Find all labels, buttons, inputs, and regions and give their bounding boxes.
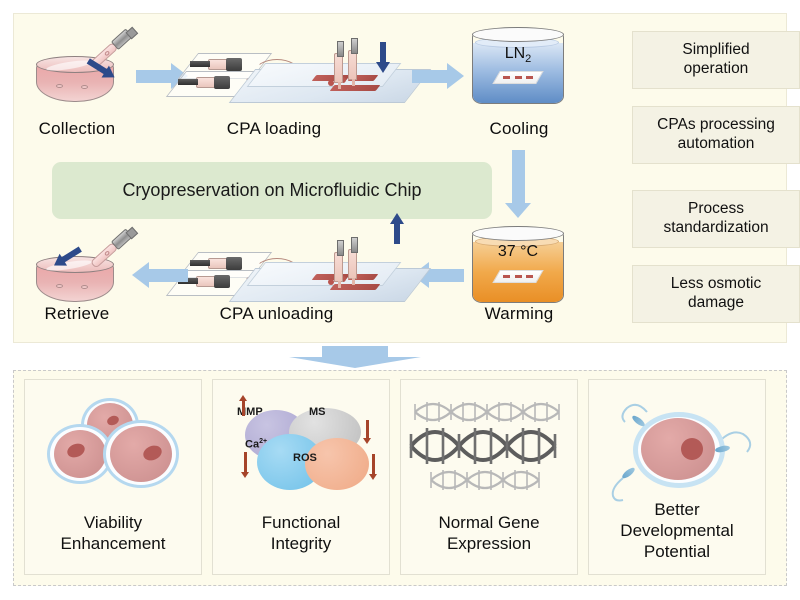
- sperm-tail: [613, 478, 623, 501]
- step-label-cpa-loading: CPA loading: [194, 119, 354, 139]
- figure-root: Collection: [0, 0, 800, 600]
- outcome-card-viability-enhancement: Viability Enhancement: [24, 379, 202, 575]
- dna-svg: [401, 394, 579, 504]
- arrow-shaft: [394, 222, 400, 244]
- warming-temperature-label: 37 °C: [472, 243, 564, 261]
- organelle-blobs-icon: MMP MS Ca2+ ROS: [213, 394, 391, 504]
- outcomes-panel: Viability Enhancement MMP MS Ca2+ ROS: [13, 370, 787, 586]
- syringe-grip: [226, 58, 242, 71]
- syringe-plunger: [178, 79, 198, 85]
- arrow-head: [132, 262, 149, 288]
- caption-line-1: Normal Gene: [401, 512, 577, 533]
- warming-beaker-icon: 37 °C: [472, 226, 564, 304]
- arrow-shaft: [244, 452, 247, 472]
- step-label-cooling: Cooling: [464, 119, 574, 139]
- feature-box-cpas-processing-automation: CPAs processing automation: [632, 106, 800, 164]
- dna-helix-icon: [401, 394, 579, 504]
- vertical-pipette: [334, 252, 343, 282]
- trend-arrow-ros-down-icon: [369, 454, 378, 480]
- trend-arrow-ms-down-icon: [363, 420, 372, 444]
- embryo-cells-icon: [25, 394, 203, 504]
- arrow-shaft: [372, 454, 375, 474]
- cell-cytoplasm: [110, 426, 172, 482]
- chip-in-warm-bath: [492, 270, 544, 283]
- blob-ros-right: [305, 438, 369, 490]
- caption-line-1: Better: [589, 499, 765, 520]
- syringe-grip: [214, 275, 230, 288]
- step-label-collection: Collection: [22, 119, 132, 139]
- marker-label-ms: MS: [309, 406, 326, 418]
- caption-line-1: Viability: [25, 512, 201, 533]
- outcome-card-functional-integrity: MMP MS Ca2+ ROS: [212, 379, 390, 575]
- arrow-head: [376, 62, 390, 73]
- chip-in-ln2: [492, 71, 544, 84]
- caption-line-1: Functional: [213, 512, 389, 533]
- flow-arrow-cooling-to-warming: [505, 150, 531, 218]
- outcome-caption: Viability Enhancement: [25, 512, 201, 554]
- arrow-shaft: [366, 420, 369, 438]
- outcome-caption: Better Developmental Potential: [589, 499, 765, 562]
- dish-spot: [81, 285, 88, 289]
- feature-box-process-standardization: Process standardization: [632, 190, 800, 248]
- arrow-head: [241, 472, 249, 478]
- feature-line-1: CPAs processing: [657, 116, 775, 135]
- step-label-cpa-unloading: CPA unloading: [189, 304, 364, 324]
- arrow-head: [369, 474, 377, 480]
- arrow-shaft: [428, 269, 464, 282]
- arrow-head: [239, 395, 247, 401]
- banner-cryopreservation: Cryopreservation on Microfluidic Chip: [52, 162, 492, 219]
- arrow-head: [363, 438, 371, 444]
- oocyte-nucleus: [681, 438, 703, 460]
- trend-arrow-mmp-up-icon: [239, 395, 248, 416]
- banner-text: Cryopreservation on Microfluidic Chip: [122, 180, 421, 201]
- panel-transition-arrow-icon: [289, 346, 421, 368]
- feature-line-1: Process: [663, 200, 768, 219]
- caption-line-2: Expression: [401, 533, 577, 554]
- caption-line-3: Potential: [589, 541, 765, 562]
- oocyte-cytoplasm: [641, 418, 715, 480]
- outcome-caption: Functional Integrity: [213, 512, 389, 554]
- ln2-subscript: 2: [525, 53, 531, 65]
- feature-line-2: standardization: [663, 219, 768, 238]
- feature-line-2: automation: [657, 135, 775, 154]
- workflow-panel: Collection: [13, 13, 787, 343]
- step-label-warming: Warming: [464, 304, 574, 324]
- outcome-card-normal-gene-expression: Normal Gene Expression: [400, 379, 578, 575]
- oocyte-sperm-icon: [589, 394, 767, 504]
- dna-helix-back-top: [415, 402, 559, 422]
- dish-spot: [56, 284, 63, 288]
- arrow-shaft: [512, 150, 525, 204]
- feature-box-simplified-operation: Simplified operation: [632, 31, 800, 89]
- step-label-retrieve: Retrieve: [22, 304, 132, 324]
- ln2-symbol: LN: [505, 45, 525, 62]
- flow-arrow-unloading-to-retrieve: [132, 262, 188, 288]
- arrow-shaft: [412, 70, 448, 83]
- feature-line-2: operation: [682, 60, 749, 79]
- dish-spot: [56, 84, 63, 88]
- arrow-head: [505, 203, 531, 218]
- marker-ca-charge: 2+: [259, 438, 267, 445]
- vertical-pipette: [348, 249, 357, 279]
- trend-arrow-ca-down-icon: [241, 452, 250, 478]
- feature-box-less-osmotic-damage: Less osmotic damage: [632, 265, 800, 323]
- arrow-head: [447, 63, 464, 89]
- beaker-rim: [472, 226, 564, 241]
- outcome-card-better-developmental-potential: Better Developmental Potential: [588, 379, 766, 575]
- ln2-label: LN2: [472, 45, 564, 65]
- caption-line-2: Enhancement: [25, 533, 201, 554]
- arrow-shaft: [242, 401, 245, 416]
- arrow-head: [289, 357, 421, 368]
- dna-helix-front: [411, 432, 555, 460]
- feature-line-1: Simplified: [682, 41, 749, 60]
- beaker-rim: [472, 27, 564, 42]
- outcome-caption: Normal Gene Expression: [401, 512, 577, 554]
- arrow-shaft: [380, 42, 386, 64]
- caption-line-2: Developmental: [589, 520, 765, 541]
- syringe-grip: [226, 257, 242, 270]
- caption-line-2: Integrity: [213, 533, 389, 554]
- arrow-shaft: [148, 269, 188, 282]
- vertical-pipette: [334, 53, 343, 83]
- vertical-pipette: [348, 50, 357, 80]
- feature-line-2: damage: [671, 294, 761, 313]
- ln2-beaker-icon: LN2: [472, 27, 564, 105]
- arrow-head: [390, 213, 404, 224]
- marker-ca-symbol: Ca: [245, 439, 259, 451]
- syringe-grip: [214, 76, 230, 89]
- marker-label-ca: Ca2+: [245, 438, 267, 451]
- flow-arrow-loading-to-cooling: [412, 63, 464, 89]
- arrow-shaft: [136, 70, 172, 83]
- feature-line-1: Less osmotic: [671, 275, 761, 294]
- syringe-plunger: [190, 260, 210, 266]
- dna-helix-back-bottom: [431, 470, 539, 490]
- dish-spot: [81, 85, 88, 89]
- marker-label-ros: ROS: [293, 452, 317, 464]
- syringe-plunger: [190, 61, 210, 67]
